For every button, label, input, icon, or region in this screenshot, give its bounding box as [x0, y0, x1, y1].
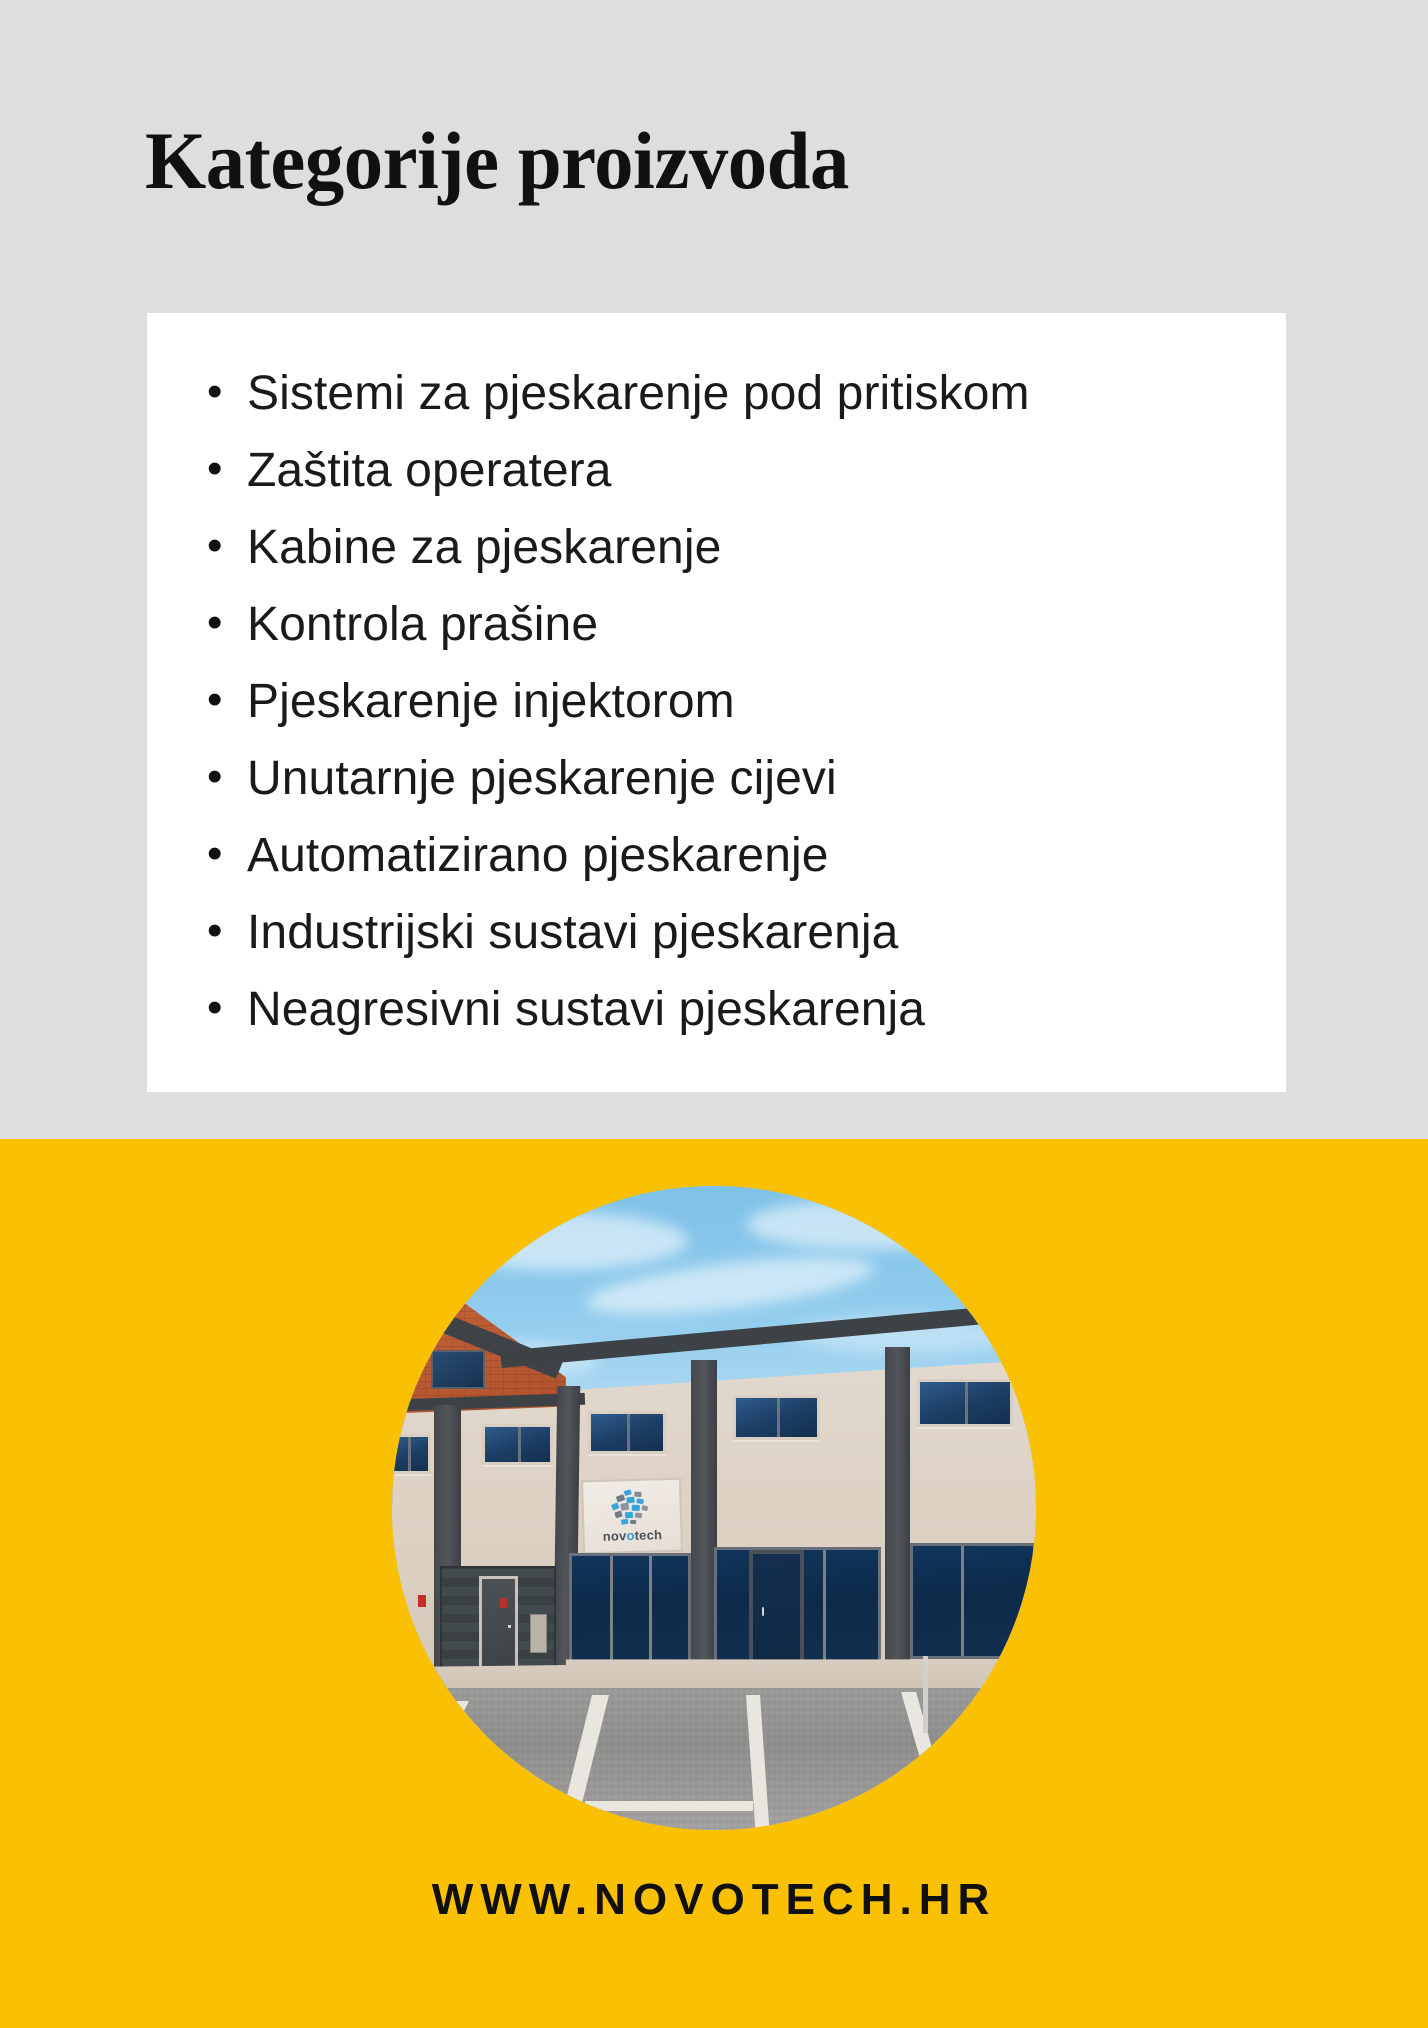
list-item-label: Zaštita operatera [247, 447, 612, 495]
list-item[interactable]: •Automatizirano pjeskarenje [147, 832, 1030, 909]
parking-stripe [585, 1801, 752, 1811]
list-item-label: Pjeskarenje injektorom [247, 678, 735, 726]
upper-window [733, 1395, 820, 1440]
brick-house-window [431, 1350, 486, 1389]
bullet-icon: • [207, 678, 247, 722]
door-handle-icon [762, 1607, 764, 1616]
ground-floor-glazing [910, 1543, 1036, 1659]
poster-root: Kategorije proizvoda •Sistemi za pjeskar… [0, 0, 1428, 2028]
category-card: •Sistemi za pjeskarenje pod pritiskom•Za… [147, 313, 1286, 1092]
list-item-label: Unutarnje pjeskarenje cijevi [247, 755, 837, 803]
bullet-icon: • [207, 755, 247, 799]
novotech-globe-icon [609, 1490, 654, 1528]
list-item-label: Industrijski sustavi pjeskarenja [247, 909, 898, 957]
footer-website-url[interactable]: WWW.NOVOTECH.HR [0, 1875, 1428, 1925]
list-item[interactable]: •Unutarnje pjeskarenje cijevi [147, 755, 1030, 832]
list-item-label: Kontrola prašine [247, 601, 598, 649]
list-item[interactable]: •Kontrola prašine [147, 601, 1030, 678]
building-photo-circle: novotech [392, 1186, 1036, 1830]
category-list: •Sistemi za pjeskarenje pod pritiskom•Za… [147, 313, 1030, 1063]
bullet-icon: • [207, 370, 247, 414]
list-item-label: Neagresivni sustavi pjeskarenja [247, 986, 925, 1034]
upper-window [917, 1379, 1014, 1427]
bullet-icon: • [207, 447, 247, 491]
ground-floor-glazing [569, 1553, 691, 1662]
upper-window [588, 1411, 665, 1454]
cloud-shape [746, 1199, 991, 1251]
page-title: Kategorije proizvoda [145, 118, 849, 204]
parking-pole [923, 1656, 928, 1733]
novotech-sign: novotech [581, 1478, 683, 1555]
bullet-icon: • [207, 832, 247, 876]
novotech-sign-text: novotech [603, 1528, 663, 1543]
building-photo: novotech [392, 1186, 1036, 1830]
wall-marker [418, 1595, 426, 1607]
yellow-footer-band: novotech [0, 1139, 1428, 2028]
upper-window [482, 1424, 553, 1465]
facade-pilaster [885, 1347, 911, 1701]
utility-meter-box [530, 1614, 547, 1653]
upper-window [392, 1434, 431, 1474]
cloud-shape [431, 1212, 689, 1270]
side-door [479, 1576, 518, 1679]
bullet-icon: • [207, 986, 247, 1030]
list-item[interactable]: •Zaštita operatera [147, 447, 1030, 524]
list-item[interactable]: •Pjeskarenje injektorom [147, 678, 1030, 755]
door-handle-icon [508, 1625, 511, 1627]
list-item-label: Sistemi za pjeskarenje pod pritiskom [247, 370, 1030, 418]
bullet-icon: • [207, 524, 247, 568]
bullet-icon: • [207, 601, 247, 645]
list-item[interactable]: •Kabine za pjeskarenje [147, 524, 1030, 601]
list-item-label: Automatizirano pjeskarenje [247, 832, 829, 880]
list-item[interactable]: •Sistemi za pjeskarenje pod pritiskom [147, 370, 1030, 447]
list-item[interactable]: •Neagresivni sustavi pjeskarenja [147, 986, 1030, 1063]
list-item[interactable]: •Industrijski sustavi pjeskarenja [147, 909, 1030, 986]
bullet-icon: • [207, 909, 247, 953]
list-item-label: Kabine za pjeskarenje [247, 524, 721, 572]
wall-marker [500, 1598, 507, 1608]
